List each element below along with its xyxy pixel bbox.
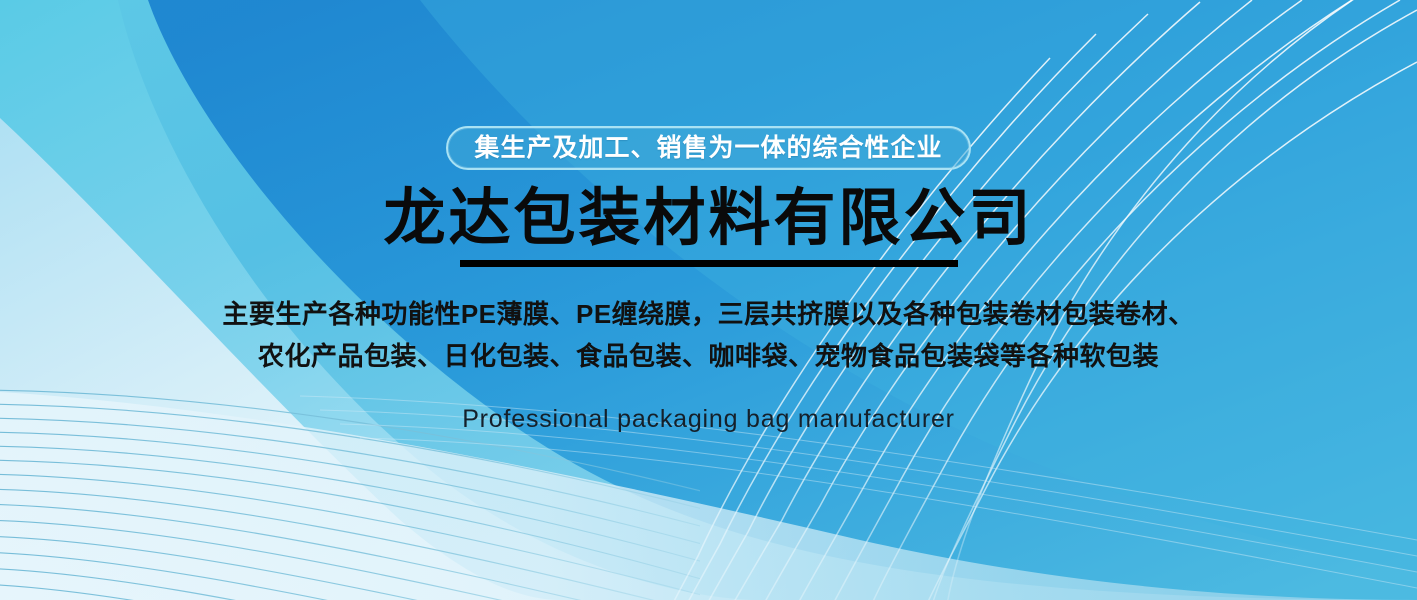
company-title: 龙达包装材料有限公司 xyxy=(383,186,1033,253)
promo-banner: 集生产及加工、销售为一体的综合性企业 龙达包装材料有限公司 主要生产各种功能性P… xyxy=(0,0,1417,600)
description-block: 主要生产各种功能性PE薄膜、PE缠绕膜，三层共挤膜以及各种包装卷材包装卷材、 农… xyxy=(222,293,1194,377)
english-tagline: Professional packaging bag manufacturer xyxy=(462,405,955,434)
title-underline xyxy=(460,260,958,267)
banner-content: 集生产及加工、销售为一体的综合性企业 龙达包装材料有限公司 主要生产各种功能性P… xyxy=(0,0,1417,600)
description-line-2: 农化产品包装、日化包装、食品包装、咖啡袋、宠物食品包装袋等各种软包装 xyxy=(222,335,1194,377)
tagline-badge-label: 集生产及加工、销售为一体的综合性企业 xyxy=(474,136,942,161)
description-line-1: 主要生产各种功能性PE薄膜、PE缠绕膜，三层共挤膜以及各种包装卷材包装卷材、 xyxy=(222,293,1194,335)
tagline-badge: 集生产及加工、销售为一体的综合性企业 xyxy=(446,126,970,170)
